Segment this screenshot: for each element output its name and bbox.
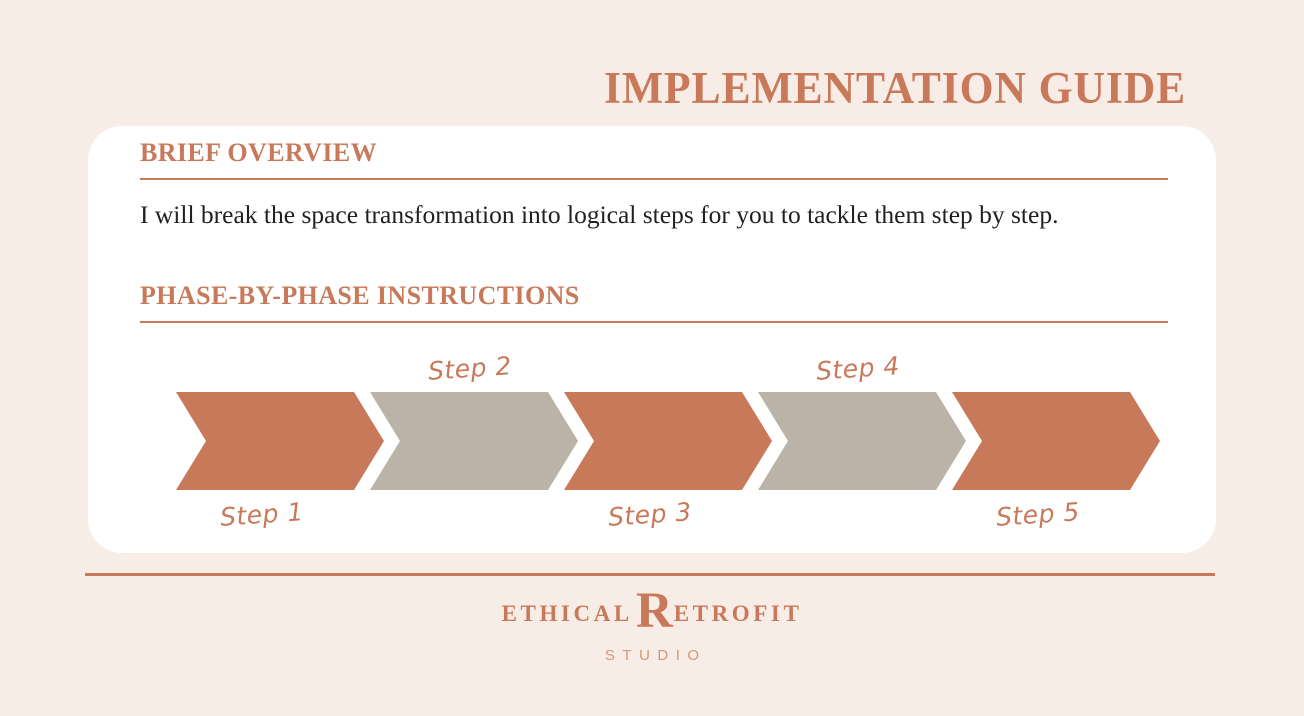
logo-subtitle: STUDIO [0,647,1304,664]
step-label-1: Step 1 [219,497,305,532]
logo-text-etrofit: ETROFIT [674,602,803,625]
card-inner: BRIEF OVERVIEW I will break the space tr… [140,138,1168,553]
overview-body-text: I will break the space transformation in… [140,198,1168,232]
page-title: IMPLEMENTATION GUIDE [604,66,1186,111]
heading-divider-phases [140,321,1168,323]
step-label-3: Step 3 [607,497,693,532]
chevron-step-5[interactable] [952,392,1160,490]
chevron-step-4[interactable] [758,392,966,490]
chevron-row: Step 1Step 2Step 3Step 4Step 5 [176,382,1176,492]
step-label-2: Step 2 [427,351,513,386]
brand-logo: ETHICAL R ETROFIT STUDIO [0,602,1304,664]
logo-wordmark: ETHICAL R ETROFIT [502,602,803,639]
guide-page: IMPLEMENTATION GUIDE BRIEF OVERVIEW I wi… [0,0,1304,716]
phase-flow-diagram: Step 1Step 2Step 3Step 4Step 5 [176,382,1176,492]
step-label-4: Step 4 [815,351,901,386]
step-label-5: Step 5 [995,497,1081,532]
section-heading-brief-overview: BRIEF OVERVIEW [140,138,1168,168]
heading-divider-overview [140,178,1168,180]
logo-text-ethical: ETHICAL [502,602,633,625]
logo-letter-r-icon: R [636,593,673,630]
footer-divider [85,573,1215,576]
content-card: BRIEF OVERVIEW I will break the space tr… [88,126,1216,553]
chevron-step-2[interactable] [370,392,578,490]
section-heading-phase-instructions: PHASE-BY-PHASE INSTRUCTIONS [140,281,1168,311]
chevron-step-1[interactable] [176,392,384,490]
chevron-step-3[interactable] [564,392,772,490]
